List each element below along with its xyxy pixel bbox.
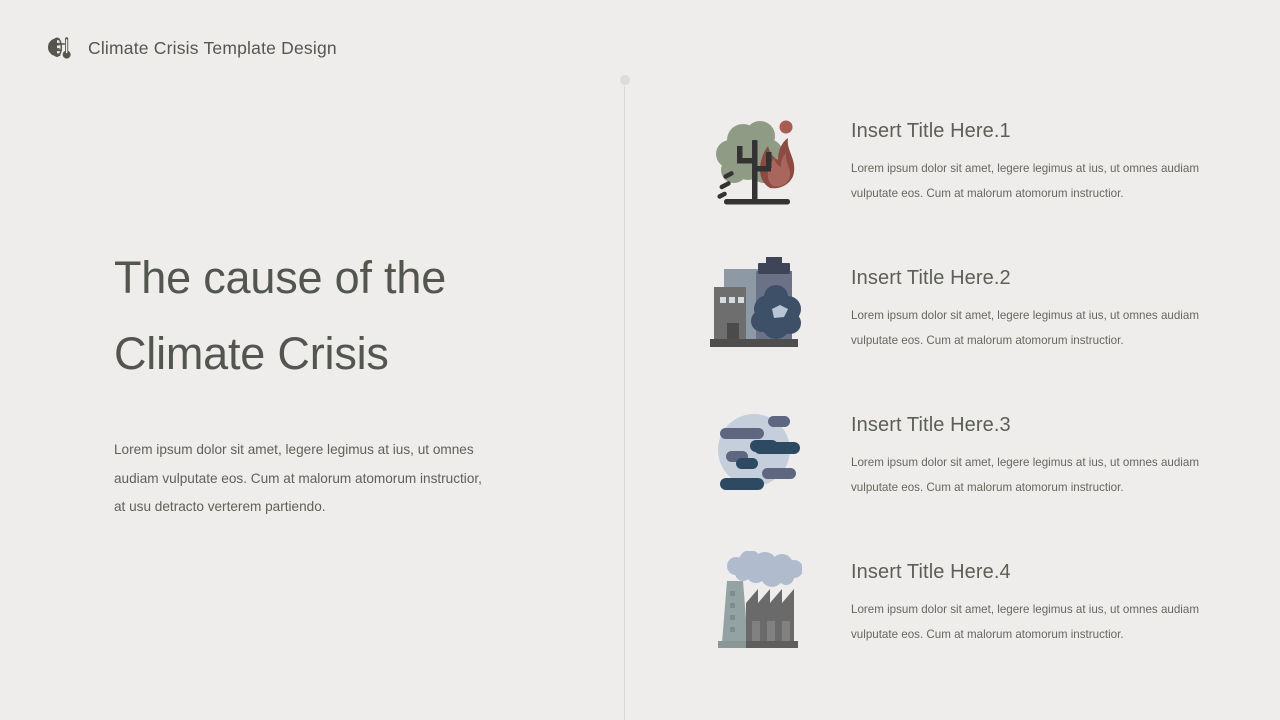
globe-thermometer-icon	[44, 33, 74, 63]
list-item[interactable]: Insert Title Here.4 Lorem ipsum dolor si…	[706, 545, 1226, 692]
page-title-line-1: The cause of the	[114, 240, 534, 316]
list-item-title: Insert Title Here.1	[851, 120, 1201, 143]
smog-globe-icon	[706, 398, 806, 496]
page-description: Lorem ipsum dolor sit amet, legere legim…	[114, 436, 494, 522]
list-item-title: Insert Title Here.4	[851, 561, 1201, 584]
divider-dot	[620, 75, 630, 85]
header-title: Climate Crisis Template Design	[88, 38, 337, 59]
list-item[interactable]: Insert Title Here.1 Lorem ipsum dolor si…	[706, 104, 1226, 251]
vertical-divider	[624, 86, 625, 720]
list-item[interactable]: Insert Title Here.3 Lorem ipsum dolor si…	[706, 398, 1226, 545]
list-item-text: Insert Title Here.4 Lorem ipsum dolor si…	[806, 545, 1201, 648]
list-item-body: Lorem ipsum dolor sit amet, legere legim…	[851, 598, 1201, 648]
list-item-title: Insert Title Here.3	[851, 414, 1201, 437]
list-item-title: Insert Title Here.2	[851, 267, 1201, 290]
list-item-text: Insert Title Here.3 Lorem ipsum dolor si…	[806, 398, 1201, 501]
feature-list: Insert Title Here.1 Lorem ipsum dolor si…	[706, 104, 1226, 692]
factory-smokestack-icon	[706, 545, 806, 651]
page-title-line-2: Climate Crisis	[114, 316, 534, 392]
list-item[interactable]: Insert Title Here.2 Lorem ipsum dolor si…	[706, 251, 1226, 398]
list-item-body: Lorem ipsum dolor sit amet, legere legim…	[851, 451, 1201, 501]
left-panel: The cause of the Climate Crisis Lorem ip…	[114, 240, 534, 522]
list-item-body: Lorem ipsum dolor sit amet, legere legim…	[851, 157, 1201, 207]
list-item-body: Lorem ipsum dolor sit amet, legere legim…	[851, 304, 1201, 354]
factory-smoke-cloud-icon	[706, 251, 806, 353]
list-item-text: Insert Title Here.2 Lorem ipsum dolor si…	[806, 251, 1201, 354]
page-title: The cause of the Climate Crisis	[114, 240, 534, 392]
list-item-text: Insert Title Here.1 Lorem ipsum dolor si…	[806, 104, 1201, 207]
burning-tree-icon	[706, 104, 806, 210]
header: Climate Crisis Template Design	[44, 33, 337, 63]
